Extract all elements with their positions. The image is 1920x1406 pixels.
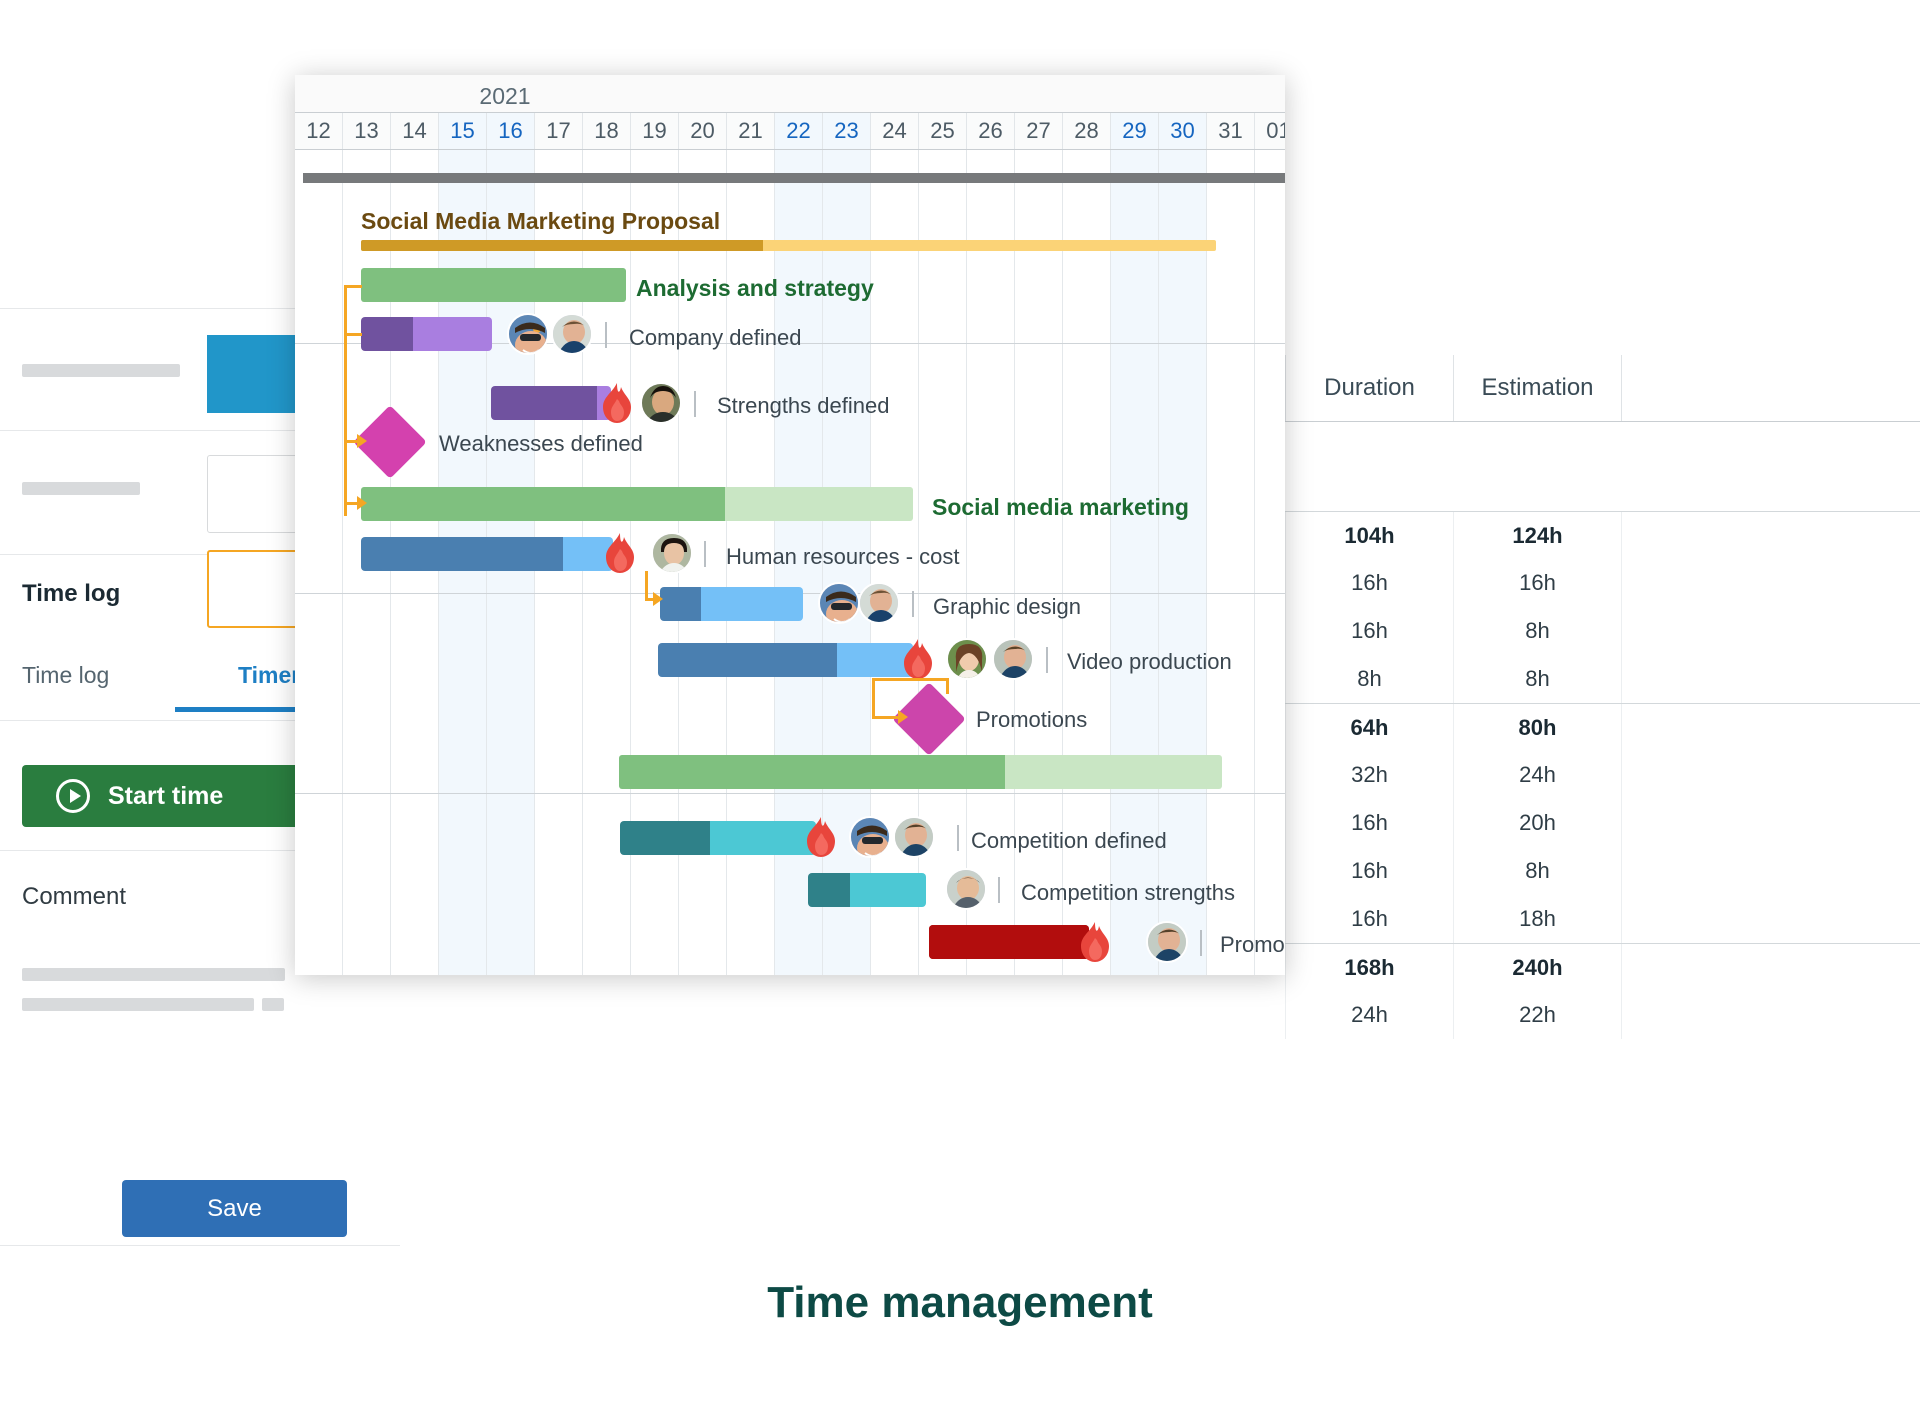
- gantt-bar-smm[interactable]: [361, 487, 913, 521]
- dependency-arrow: [898, 710, 908, 724]
- date-cell-21[interactable]: 21: [727, 113, 775, 149]
- placeholder-text: [22, 998, 254, 1011]
- gantt-bar-promot[interactable]: [929, 925, 1089, 959]
- date-cell-18[interactable]: 18: [583, 113, 631, 149]
- timeline-cell: [727, 150, 775, 173]
- date-cell-29[interactable]: 29: [1111, 113, 1159, 149]
- label-separator: [704, 541, 706, 567]
- avatar[interactable]: [849, 816, 891, 858]
- timeline-cell: [1159, 150, 1207, 173]
- flame-icon: [1075, 920, 1115, 964]
- flame-icon: [600, 531, 640, 575]
- date-cell-12[interactable]: 12: [295, 113, 343, 149]
- timeline-spacer-row: [295, 150, 1285, 173]
- table-row[interactable]: 168h240h: [1285, 943, 1920, 991]
- timeline-cell: [871, 150, 919, 173]
- avatar[interactable]: [551, 313, 593, 355]
- gantt-label-compdef[interactable]: Competition defined: [971, 828, 1167, 854]
- dependency-link: [872, 716, 901, 719]
- timeline-cell: [1255, 150, 1285, 173]
- dependency-link: [344, 285, 362, 288]
- save-label: Save: [207, 1195, 262, 1223]
- timeline-cell: [967, 150, 1015, 173]
- gantt-bar-video[interactable]: [658, 643, 913, 677]
- date-cell-24[interactable]: 24: [871, 113, 919, 149]
- cell-estimation: 8h: [1453, 847, 1621, 895]
- gantt-label-weaknesses[interactable]: Weaknesses defined: [439, 431, 643, 457]
- gantt-bar-group3[interactable]: [619, 755, 1222, 789]
- flame-icon: [898, 637, 938, 681]
- tab-timer[interactable]: Timer: [238, 662, 300, 689]
- avatar[interactable]: [651, 532, 693, 574]
- grid-column: [1111, 183, 1159, 975]
- gantt-label-promot[interactable]: Promot: [1220, 932, 1285, 958]
- flame-icon: [597, 381, 637, 425]
- cell-duration: 16h: [1285, 559, 1453, 607]
- cell-extra: [1621, 751, 1920, 799]
- gantt-label-hr[interactable]: Human resources - cost: [726, 544, 960, 570]
- cell-estimation: 8h: [1453, 655, 1621, 703]
- divider: [0, 1245, 400, 1246]
- grid-column: [1207, 183, 1255, 975]
- timeline-cell: [823, 150, 871, 173]
- gantt-label-smm[interactable]: Social media marketing: [932, 494, 1189, 521]
- dependency-arrow: [653, 592, 663, 606]
- grid-column: [1063, 183, 1111, 975]
- cell-estimation: 20h: [1453, 799, 1621, 847]
- cell-estimation: 22h: [1453, 991, 1621, 1039]
- date-cell-01[interactable]: 01: [1255, 113, 1285, 149]
- table-header: Duration Estimation: [1285, 355, 1920, 421]
- date-cell-28[interactable]: 28: [1063, 113, 1111, 149]
- label-separator: [605, 322, 607, 348]
- cell-extra: [1621, 847, 1920, 895]
- cell-extra: [1621, 799, 1920, 847]
- grid-column: [1255, 183, 1285, 975]
- label-separator: [912, 591, 914, 617]
- avatar[interactable]: [893, 816, 935, 858]
- cell-extra: [1621, 607, 1920, 655]
- table-row[interactable]: 32h24h: [1285, 751, 1920, 799]
- cell-extra: [1621, 895, 1920, 943]
- date-cell-16[interactable]: 16: [487, 113, 535, 149]
- date-cell-30[interactable]: 30: [1159, 113, 1207, 149]
- grid-column: [295, 183, 343, 975]
- row-divider: [295, 793, 1285, 794]
- dependency-arrow: [357, 434, 367, 448]
- task-table-panel: Duration Estimation 104h124h16h16h16h8h8…: [1285, 130, 1920, 1130]
- cell-duration: 32h: [1285, 751, 1453, 799]
- cell-estimation: 18h: [1453, 895, 1621, 943]
- dependency-link: [872, 678, 875, 716]
- time-log-heading: Time log: [22, 580, 120, 608]
- gantt-bar-company[interactable]: [361, 317, 492, 351]
- cell-duration: 16h: [1285, 847, 1453, 895]
- date-cell-13[interactable]: 13: [343, 113, 391, 149]
- date-header-row: 1213141516171819202122232425262728293031…: [295, 112, 1285, 150]
- avatar[interactable]: [1146, 921, 1188, 963]
- flame-icon: [801, 815, 841, 859]
- year-label: 2021: [295, 83, 715, 110]
- gantt-label-company[interactable]: Company defined: [629, 325, 801, 351]
- date-cell-25[interactable]: 25: [919, 113, 967, 149]
- dependency-link: [872, 678, 949, 681]
- date-cell-31[interactable]: 31: [1207, 113, 1255, 149]
- cell-extra: [1621, 944, 1920, 992]
- gantt-bar-compdef[interactable]: [620, 821, 816, 855]
- cell-duration: 8h: [1285, 655, 1453, 703]
- gantt-bar-graphic[interactable]: [660, 587, 803, 621]
- timeline-cell: [583, 150, 631, 173]
- gantt-label-analysis[interactable]: Analysis and strategy: [636, 275, 874, 302]
- cell-extra: [1621, 704, 1920, 752]
- timeline-cell: [631, 150, 679, 173]
- gantt-label-strengths[interactable]: Strengths defined: [717, 393, 889, 419]
- cell-estimation: 80h: [1453, 704, 1621, 752]
- date-cell-17[interactable]: 17: [535, 113, 583, 149]
- gantt-label-graphic[interactable]: Graphic design: [933, 594, 1081, 620]
- cell-duration: 104h: [1285, 512, 1453, 560]
- scroll-track[interactable]: [303, 173, 1285, 183]
- column-header-extra[interactable]: [1621, 355, 1920, 421]
- cell-estimation: 24h: [1453, 751, 1621, 799]
- table-row[interactable]: 24h22h: [1285, 991, 1920, 1039]
- play-icon: [56, 779, 90, 813]
- placeholder-text: [22, 968, 285, 981]
- table-row[interactable]: 16h20h: [1285, 799, 1920, 847]
- gantt-label-proposal[interactable]: Social Media Marketing Proposal: [361, 208, 720, 235]
- year-bar: 2021: [295, 75, 1285, 112]
- table-row[interactable]: 104h124h: [1285, 511, 1920, 559]
- gantt-bar-analysis[interactable]: [361, 268, 626, 302]
- placeholder-text: [262, 998, 284, 1011]
- page-caption: Time management: [0, 1278, 1920, 1328]
- table-row[interactable]: 16h8h: [1285, 847, 1920, 895]
- grid-column: [1015, 183, 1063, 975]
- timeline-cell: [1063, 150, 1111, 173]
- cell-estimation: 124h: [1453, 512, 1621, 560]
- gantt-bar-compstr[interactable]: [808, 873, 926, 907]
- label-separator: [1046, 647, 1048, 673]
- cell-extra: [1621, 559, 1920, 607]
- timeline-cell: [679, 150, 727, 173]
- cell-estimation: 8h: [1453, 607, 1621, 655]
- cell-estimation: 240h: [1453, 944, 1621, 992]
- save-button[interactable]: Save: [122, 1180, 347, 1237]
- date-cell-22[interactable]: 22: [775, 113, 823, 149]
- date-cell-26[interactable]: 26: [967, 113, 1015, 149]
- table-spacer: [1285, 421, 1920, 511]
- gantt-label-promotions[interactable]: Promotions: [976, 707, 1087, 733]
- cell-duration: 16h: [1285, 895, 1453, 943]
- label-separator: [957, 825, 959, 851]
- placeholder-label: [22, 364, 180, 377]
- table-body: 104h124h16h16h16h8h8h8h64h80h32h24h16h20…: [1285, 421, 1920, 1039]
- date-cell-19[interactable]: 19: [631, 113, 679, 149]
- timeline-cell: [487, 150, 535, 173]
- cell-duration: 16h: [1285, 799, 1453, 847]
- dependency-link: [645, 571, 648, 598]
- label-separator: [694, 391, 696, 417]
- timeline-cell: [1207, 150, 1255, 173]
- date-cell-23[interactable]: 23: [823, 113, 871, 149]
- timeline-cell: [391, 150, 439, 173]
- avatar[interactable]: [858, 582, 900, 624]
- gantt-label-video[interactable]: Video production: [1067, 649, 1232, 675]
- start-time-label: Start time: [108, 782, 223, 811]
- table-row[interactable]: 16h18h: [1285, 895, 1920, 943]
- cell-duration: 24h: [1285, 991, 1453, 1039]
- placeholder-label: [22, 482, 140, 495]
- grid-column: [919, 183, 967, 975]
- column-header-duration[interactable]: Duration: [1285, 355, 1453, 421]
- grid-column: [1159, 183, 1207, 975]
- label-separator: [1200, 930, 1202, 956]
- column-header-estimation[interactable]: Estimation: [1453, 355, 1621, 421]
- timeline-cell: [535, 150, 583, 173]
- table-row[interactable]: 16h16h: [1285, 559, 1920, 607]
- gantt-chart-card: 2021 12131415161718192021222324252627282…: [295, 75, 1285, 975]
- table-row[interactable]: 16h8h: [1285, 607, 1920, 655]
- cell-estimation: 16h: [1453, 559, 1621, 607]
- label-separator: [998, 877, 1000, 903]
- timeline-cell: [343, 150, 391, 173]
- avatar[interactable]: [640, 382, 682, 424]
- tab-time-log[interactable]: Time log: [22, 662, 109, 689]
- gantt-bar-hr[interactable]: [361, 537, 613, 571]
- grid-column: [967, 183, 1015, 975]
- cell-duration: 16h: [1285, 607, 1453, 655]
- date-cell-27[interactable]: 27: [1015, 113, 1063, 149]
- table-row[interactable]: 8h8h: [1285, 655, 1920, 703]
- timeline-cell: [295, 150, 343, 173]
- timeline-cell: [919, 150, 967, 173]
- gantt-label-compstr[interactable]: Competition strengths: [1021, 880, 1235, 906]
- timeline-cell: [1015, 150, 1063, 173]
- cell-extra: [1621, 512, 1920, 560]
- comment-label: Comment: [22, 883, 126, 911]
- dependency-arrow: [357, 496, 367, 510]
- table-row[interactable]: 64h80h: [1285, 703, 1920, 751]
- timeline-cell: [1111, 150, 1159, 173]
- timeline-cell: [439, 150, 487, 173]
- avatar[interactable]: [992, 638, 1034, 680]
- cell-duration: 168h: [1285, 944, 1453, 992]
- dependency-link: [344, 333, 362, 336]
- gantt-bar-strengths[interactable]: [491, 386, 611, 420]
- avatar[interactable]: [818, 582, 860, 624]
- avatar[interactable]: [945, 868, 987, 910]
- avatar[interactable]: [507, 313, 549, 355]
- dependency-link: [344, 285, 347, 516]
- avatar[interactable]: [946, 638, 988, 680]
- timeline-cell: [775, 150, 823, 173]
- date-cell-15[interactable]: 15: [439, 113, 487, 149]
- date-cell-20[interactable]: 20: [679, 113, 727, 149]
- cell-duration: 64h: [1285, 704, 1453, 752]
- cell-extra: [1621, 991, 1920, 1039]
- gantt-bar-proposal[interactable]: [361, 240, 1216, 251]
- cell-extra: [1621, 655, 1920, 703]
- date-cell-14[interactable]: 14: [391, 113, 439, 149]
